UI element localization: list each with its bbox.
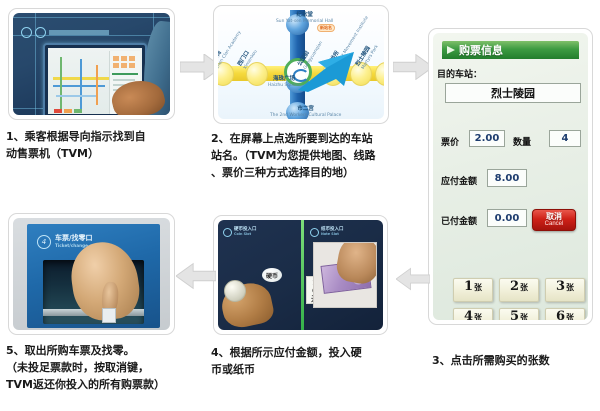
cancel-button[interactable]: 取消 Cancel (532, 209, 576, 231)
step-2-caption: 2、在屏幕上点选所要到达的车站 站名。（TVM为您提供地图、线路 、票价三种方式… (211, 130, 403, 181)
count: 4 (464, 309, 473, 320)
step-2-photo: 纪念堂 Sun Yat-sen Memorial Hall 海珠广场 Haizh… (218, 10, 384, 119)
quantity-value: 4 (562, 133, 569, 144)
count: 6 (556, 309, 565, 320)
step-2-photo-frame: 纪念堂 Sun Yat-sen Memorial Hall 海珠广场 Haizh… (213, 5, 389, 124)
payable-label: 应付金额 (441, 174, 477, 187)
note-insert-illustration (313, 242, 377, 308)
payable-value: 8.00 (495, 173, 520, 184)
header-arrow-icon (447, 46, 455, 54)
step-3-photo-frame: 购票信息 目的车站： 烈士陵园 票价 2.00 数量 4 应付金额 8.00 (428, 28, 593, 325)
ticket-button-5[interactable]: 5 张 (499, 308, 539, 320)
destination-field[interactable]: 烈士陵园 (445, 83, 581, 103)
new-station-tag: 新站名 (317, 24, 335, 32)
ticket-outlet-panel: 4 车票/找零口 Ticket/change outlet (27, 224, 160, 328)
ticket-button-2[interactable]: 2 张 (499, 278, 539, 302)
arrow-step5-to-step4 (176, 262, 216, 290)
destination-label: 目的车站： (437, 67, 482, 80)
destination-value: 烈士陵园 (491, 85, 535, 101)
payable-field: 8.00 (487, 169, 527, 187)
note-slot-sign: 纸币投入口 Note Slot (310, 227, 344, 237)
instruction-flow-grid: 1、乘客根据导向指示找到自 动售票机（TVM） (0, 0, 600, 411)
step-5-photo-frame: 4 车票/找零口 Ticket/change outlet (8, 213, 175, 335)
unit: 张 (520, 312, 528, 320)
fare-value: 2.00 (475, 133, 500, 144)
station-label-2nd-workers: 市二宫 The 2nd Workers Cultural Palace (270, 106, 341, 119)
cancel-label-en: Cancel (545, 221, 564, 228)
quantity-label: 数量 (513, 135, 531, 148)
step-1-photo-frame (8, 8, 175, 120)
coin (224, 280, 246, 302)
unit: 张 (474, 282, 482, 293)
outlet-number-icon: 4 (37, 235, 51, 249)
screen-header-title: 购票信息 (459, 42, 503, 58)
cancel-label-zh: 取消 (546, 213, 562, 221)
count: 5 (510, 309, 519, 320)
selection-pointer-arrow (296, 50, 358, 97)
step-4-caption: 4、根据所示应付金额，投入硬 币或纸币 (211, 344, 396, 378)
arrow-step4-to-step3 (396, 266, 430, 292)
label-zh: 海珠广场 (273, 76, 295, 82)
fare-field: 2.00 (469, 130, 505, 147)
ticket-button-6[interactable]: 6 张 (545, 308, 585, 320)
slot-number-icon (310, 228, 319, 237)
route-map-graphic (50, 51, 114, 114)
screen-header: 购票信息 (442, 41, 579, 59)
tvm-signage (21, 27, 109, 38)
paid-field: 0.00 (487, 209, 527, 227)
coin-slot-label: 硬币投入口 Coin Slot (234, 227, 257, 237)
ticket-button-1[interactable]: 1 张 (453, 278, 493, 302)
paid-label: 已付金额 (441, 214, 477, 227)
fare-label: 票价 (441, 135, 459, 148)
label-zh: 纪念堂 (296, 12, 313, 18)
count: 1 (464, 279, 473, 294)
coin-slot-sign: 硬币投入口 Coin Slot (223, 227, 257, 237)
slot-number-icon (223, 228, 232, 237)
ticket-button-3[interactable]: 3 张 (545, 278, 585, 302)
ticket (102, 308, 116, 323)
step-1-caption: 1、乘客根据导向指示找到自 动售票机（TVM） (6, 128, 186, 162)
label-zh: 市二宫 (297, 106, 314, 112)
ticket-quantity-keypad: 1 张 2 张 3 张 4 张 (453, 278, 588, 320)
arrow-step2-to-step3 (393, 54, 433, 80)
ticket-button-4[interactable]: 4 张 (453, 308, 493, 320)
paid-value: 0.00 (495, 213, 520, 224)
step-5-caption: 5、取出所购车票及找零。 （未投足票款时，按取消键， TVM返还你投入的所有购票… (6, 342, 196, 393)
step-5-photo: 4 车票/找零口 Ticket/change outlet (13, 218, 170, 330)
step-4-photo: 硬币投入口 Coin Slot 纸币投入口 Note Slot 硬币 (218, 220, 383, 330)
unit: 张 (520, 282, 528, 293)
panel-divider (301, 220, 304, 330)
unit: 张 (566, 282, 574, 293)
note-slot-label: 纸币投入口 Note Slot (321, 227, 344, 237)
coin-hint-badge-1: 硬币 (262, 268, 282, 282)
count: 3 (556, 279, 565, 294)
unit: 张 (474, 312, 482, 320)
step-4-photo-frame: 硬币投入口 Coin Slot 纸币投入口 Note Slot 硬币 (213, 215, 388, 335)
unit: 张 (566, 312, 574, 320)
step-1-photo (13, 13, 170, 115)
tvm-purchase-screen: 购票信息 目的车站： 烈士陵园 票价 2.00 数量 4 应付金额 8.00 (433, 33, 588, 320)
step-3-caption: 3、点击所需购买的张数 (432, 352, 597, 369)
count: 2 (510, 279, 519, 294)
quantity-field: 4 (549, 130, 581, 147)
label-en: The 2nd Workers Cultural Palace (270, 113, 341, 120)
